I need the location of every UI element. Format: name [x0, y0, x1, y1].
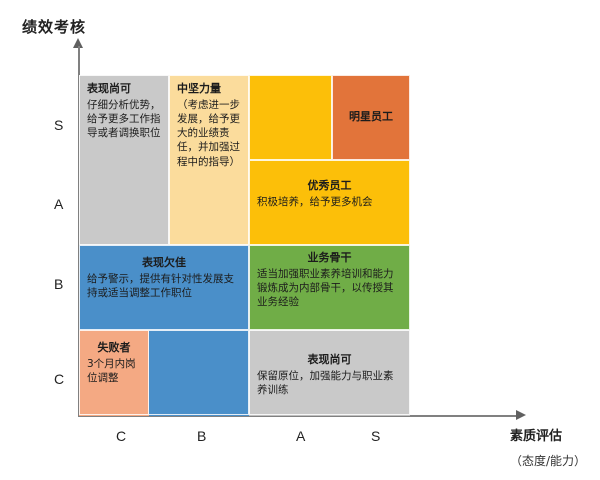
x-axis-subtitle: （态度/能力） [510, 452, 586, 469]
matrix-cell-backbone[interactable]: 业务骨干 适当加强职业素养培训和能力锻炼成为内部骨干，以传授其业务经验 [249, 245, 410, 330]
matrix-cell-underperformer[interactable]: 表现欠佳 给予警示，提供有针对性发展支持或适当调整工作职位 [79, 245, 249, 330]
performance-potential-matrix: 表现尚可 仔细分析优势，给予更多工作指导或者调换职位 中坚力量 （考虑进一步发展… [79, 75, 410, 415]
cell-title: 表现尚可 [87, 82, 161, 97]
cell-title: 业务骨干 [257, 251, 402, 266]
cell-title: 失败者 [87, 341, 141, 356]
cell-title: 优秀员工 [257, 179, 402, 194]
x-axis-title: 素质评估 [510, 425, 562, 444]
y-axis-tick-a: A [54, 196, 63, 212]
matrix-cell-gold-upper[interactable] [249, 75, 332, 160]
matrix-cell-core-force[interactable]: 中坚力量 （考虑进一步发展，给予更大的业绩责任，并加强过程中的指导） [169, 75, 249, 245]
cell-body: 3个月内岗位调整 [87, 357, 141, 385]
matrix-cell-failure[interactable]: 失败者 3个月内岗位调整 [79, 330, 149, 415]
cell-title: 中坚力量 [177, 82, 241, 97]
cell-body: 保留原位，加强能力与职业素养训练 [257, 369, 402, 397]
matrix-cell-excellent-employee[interactable]: 优秀员工 积极培养，给予更多机会 [249, 160, 410, 245]
x-axis-tick-a: A [296, 428, 305, 444]
cell-body: 适当加强职业素养培训和能力锻炼成为内部骨干，以传授其业务经验 [257, 267, 402, 310]
y-axis-tick-s: S [54, 117, 63, 133]
y-axis-tick-b: B [54, 276, 63, 292]
x-axis-arrow-icon [516, 410, 526, 420]
matrix-cell-grey-left[interactable]: 表现尚可 仔细分析优势，给予更多工作指导或者调换职位 [79, 75, 169, 245]
cell-body: 积极培养，给予更多机会 [257, 195, 402, 209]
cell-title: 表现欠佳 [87, 256, 241, 271]
x-axis-tick-c: C [116, 428, 126, 444]
matrix-cell-acceptable[interactable]: 表现尚可 保留原位，加强能力与职业素养训练 [249, 330, 410, 415]
cell-body: 给予警示，提供有针对性发展支持或适当调整工作职位 [87, 272, 241, 300]
cell-body: 仔细分析优势，给予更多工作指导或者调换职位 [87, 98, 161, 141]
x-axis-tick-b: B [197, 428, 206, 444]
y-axis-tick-c: C [54, 371, 64, 387]
cell-body: （考虑进一步发展，给予更大的业绩责任，并加强过程中的指导） [177, 98, 241, 169]
y-axis-title: 绩效考核 [22, 16, 86, 37]
cell-title: 明星员工 [349, 110, 393, 125]
x-axis-tick-s: S [371, 428, 380, 444]
cell-title: 表现尚可 [257, 353, 402, 368]
matrix-cell-star-employee[interactable]: 明星员工 [332, 75, 410, 160]
